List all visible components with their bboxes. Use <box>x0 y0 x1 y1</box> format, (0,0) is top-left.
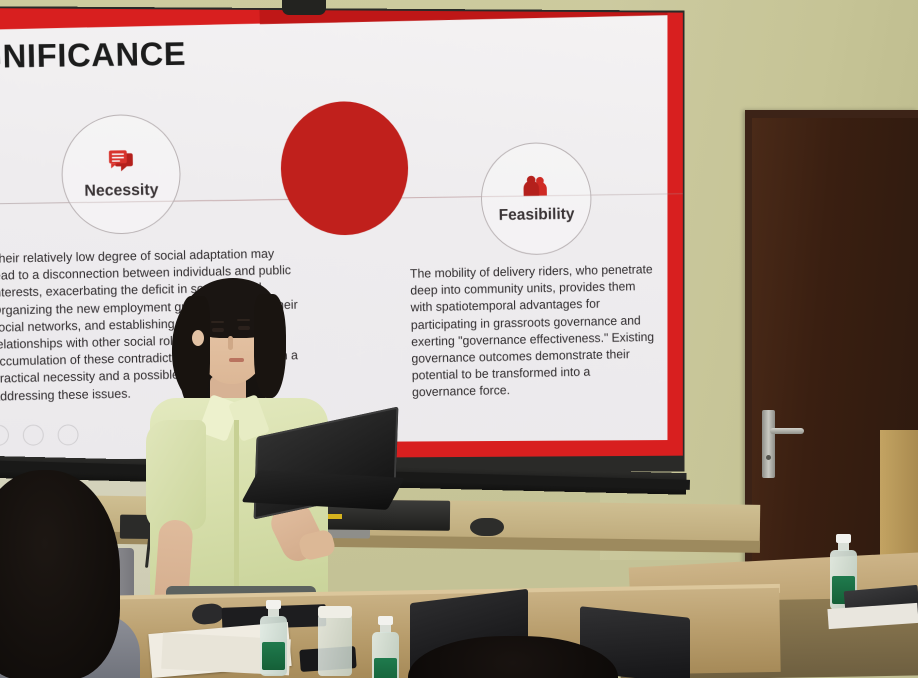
door-handle[interactable] <box>770 428 804 434</box>
water-bottle[interactable] <box>370 616 400 678</box>
back-table-mouse[interactable] <box>470 518 504 536</box>
presenter-mouth <box>229 358 244 362</box>
bottle-cap <box>266 600 281 609</box>
slide-title: SIGNIFICANCE <box>0 35 186 76</box>
chat-bubble-icon <box>107 148 135 174</box>
presenter-sleeve-left <box>146 420 206 530</box>
bottle-cap <box>836 534 851 543</box>
bottle-cap <box>378 616 393 625</box>
slide-center-red-circle <box>280 101 409 237</box>
slide-right-red-band <box>667 8 682 460</box>
presenter-shirt-placket <box>234 420 239 590</box>
bottle-label <box>262 642 285 670</box>
bottle-label <box>374 658 397 678</box>
people-group-icon <box>522 173 550 199</box>
slide-node-label: Necessity <box>84 182 158 201</box>
presenter-hair-left <box>178 296 210 408</box>
slide-watermarks <box>0 424 79 445</box>
slide-body-right: The mobility of delivery riders, who pen… <box>410 261 656 401</box>
glass-jar[interactable] <box>318 614 352 676</box>
door-keyhole-icon <box>766 455 771 460</box>
watermark-circle-icon <box>58 424 79 445</box>
presenter-eye-right <box>238 326 250 330</box>
watermark-circle-icon <box>0 425 9 446</box>
slide-node-feasibility: Feasibility <box>480 142 592 256</box>
photo-scene: SIGNIFICANCE Necessity <box>0 0 918 678</box>
slide-node-necessity: Necessity <box>61 114 182 235</box>
presenter-ear <box>192 330 204 346</box>
water-bottle[interactable] <box>258 600 288 676</box>
glass-jar-lid <box>318 606 352 618</box>
presenter-nose <box>228 336 233 350</box>
ceiling-camera <box>282 0 326 15</box>
watermark-circle-icon <box>23 425 44 446</box>
slide-node-label: Feasibility <box>499 206 575 225</box>
presenter-hair-right <box>254 294 286 398</box>
presenter-eye-left <box>212 328 224 332</box>
door-handle-plate <box>762 410 775 478</box>
